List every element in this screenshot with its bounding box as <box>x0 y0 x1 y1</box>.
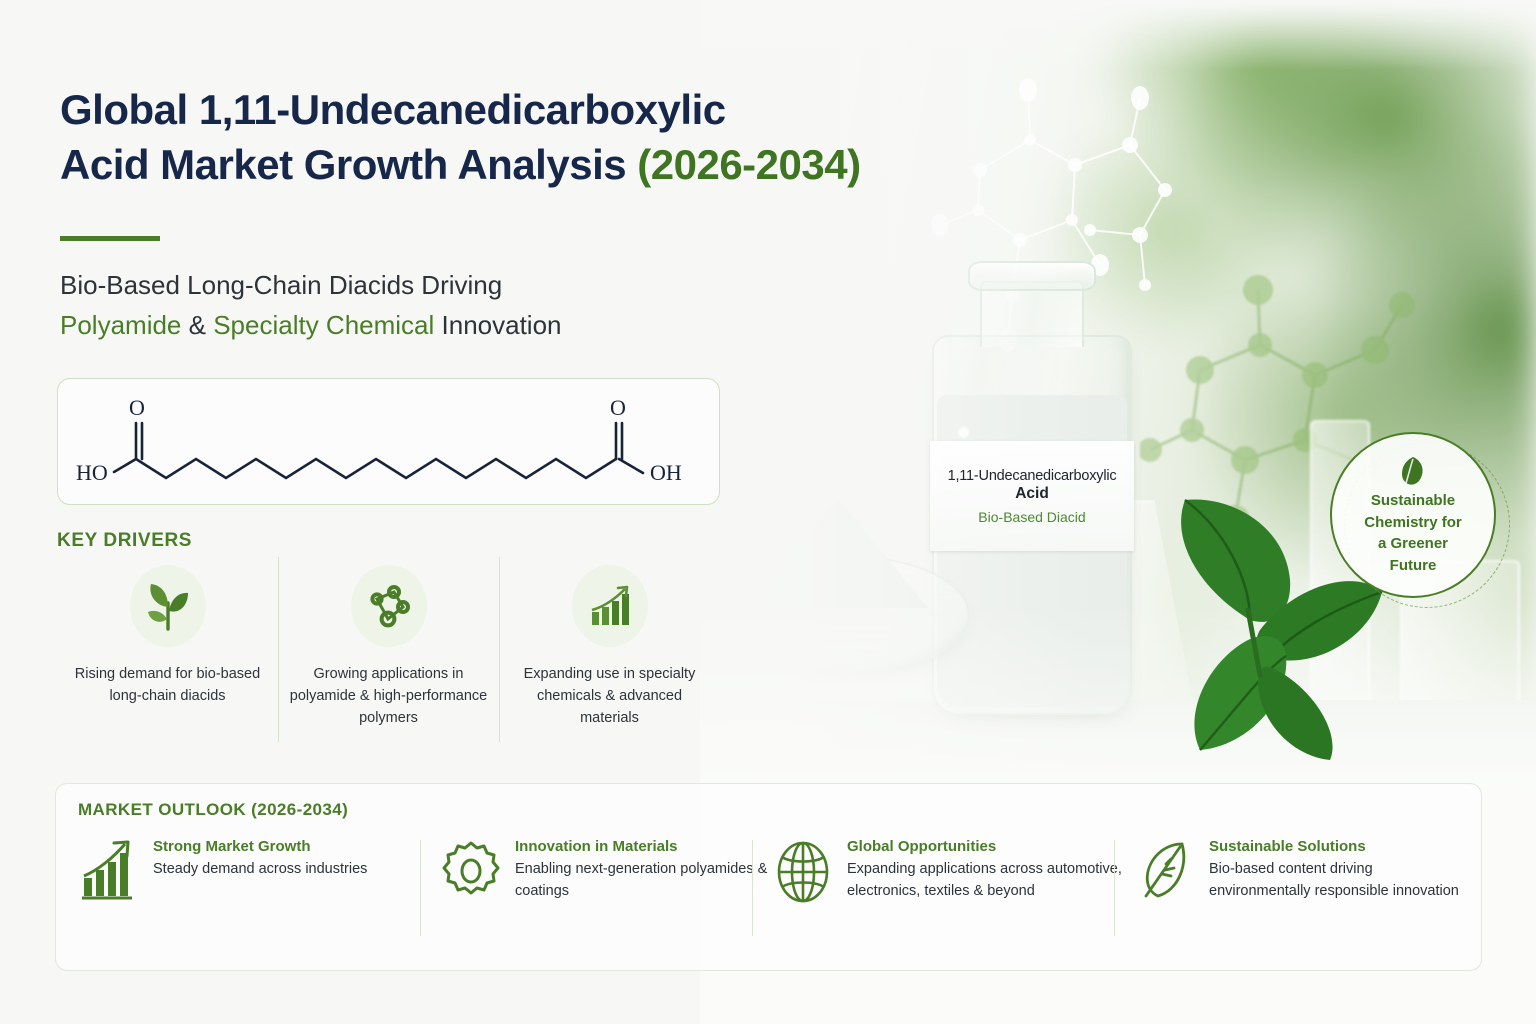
badge-line-3: a Greener <box>1378 534 1448 554</box>
key-driver-item-2: Growing applications in polyamide & high… <box>278 565 499 729</box>
title-line-1: Global 1,11-Undecanedicarboxylic <box>60 86 726 133</box>
title-line-2: Acid Market Growth Analysis <box>60 141 637 188</box>
subtitle-highlight-polyamide: Polyamide <box>60 310 181 340</box>
key-drivers-row: Rising demand for bio-based long-chain d… <box>57 565 722 729</box>
market-outlook-item-4: Sustainable Solutions Bio-based content … <box>1134 838 1464 904</box>
formula-label-O-left: O <box>129 395 145 420</box>
plant-sprout-icon <box>130 565 206 647</box>
title-divider <box>60 236 160 241</box>
jar-label: 1,11-Undecanedicarboxylic Acid Bio-Based… <box>930 441 1134 551</box>
market-outlook-title-3: Global Opportunities <box>847 838 1134 855</box>
key-driver-item-3: Expanding use in specialty chemicals & a… <box>499 565 720 729</box>
formula-label-HO: HO <box>76 460 108 485</box>
photo-top-fade <box>700 0 1536 70</box>
formula-label-OH: OH <box>650 460 682 485</box>
chemical-structure-box: HO OH O O <box>57 378 720 505</box>
market-outlook-body-4: Bio-based content driving environmentall… <box>1209 858 1464 902</box>
subtitle-tail: Innovation <box>434 310 561 340</box>
leaf-icon <box>1398 455 1428 487</box>
key-driver-item-1: Rising demand for bio-based long-chain d… <box>57 565 278 729</box>
leaf-icon <box>1134 838 1196 904</box>
skeletal-formula-icon: HO OH O O <box>58 379 721 506</box>
badge-circle: Sustainable Chemistry for a Greener Futu… <box>1330 432 1496 598</box>
jar-label-chemical-name: 1,11-Undecanedicarboxylic <box>948 468 1117 484</box>
subtitle-ampersand: & <box>181 310 213 340</box>
jar-label-subtitle: Bio-Based Diacid <box>978 509 1085 525</box>
subtitle-line-1: Bio-Based Long-Chain Diacids Driving <box>60 270 502 300</box>
bar-chart-growth-icon <box>572 565 648 647</box>
badge-line-1: Sustainable <box>1371 491 1455 511</box>
key-driver-text-1: Rising demand for bio-based long-chain d… <box>68 663 268 707</box>
title-years: (2026-2034) <box>637 141 860 188</box>
jar-label-chemical-suffix: Acid <box>1015 485 1049 503</box>
sustainability-badge: Sustainable Chemistry for a Greener Futu… <box>1330 432 1496 598</box>
key-driver-text-3: Expanding use in specialty chemicals & a… <box>510 663 710 729</box>
formula-label-O-right: O <box>610 395 626 420</box>
market-outlook-body-3: Expanding applications across automotive… <box>847 858 1134 902</box>
key-drivers-heading: KEY DRIVERS <box>57 530 192 552</box>
page-title: Global 1,11-Undecanedicarboxylic Acid Ma… <box>60 82 960 193</box>
market-outlook-item-3: Global Opportunities Expanding applicati… <box>772 838 1134 904</box>
subtitle-highlight-specialty: Specialty Chemical <box>213 310 434 340</box>
page-subtitle: Bio-Based Long-Chain Diacids Driving Pol… <box>60 266 760 345</box>
globe-icon <box>772 838 834 904</box>
molecule-icon <box>351 565 427 647</box>
badge-line-2: Chemistry for <box>1364 513 1462 533</box>
key-driver-text-2: Growing applications in polyamide & high… <box>289 663 489 729</box>
badge-line-4: Future <box>1390 556 1437 576</box>
market-outlook-title-4: Sustainable Solutions <box>1209 838 1464 855</box>
